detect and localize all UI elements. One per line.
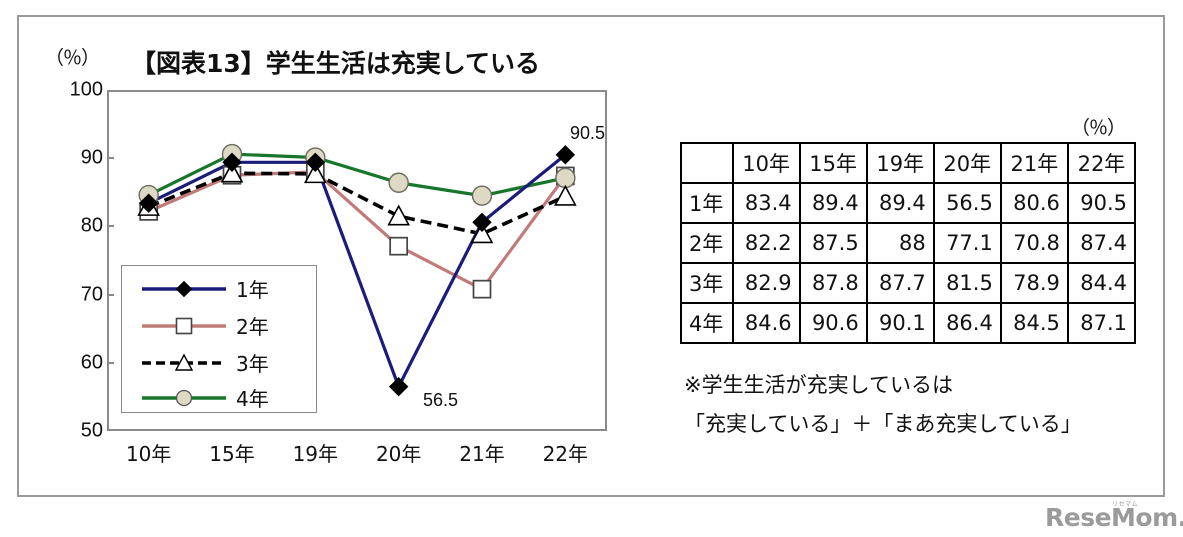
table-cell-0-4: 80.6 [1001, 183, 1068, 223]
table-row-header-0: 1年 [681, 183, 733, 223]
table-col-header-0: 10年 [733, 143, 800, 183]
x-tick-label-5: 22年 [520, 438, 610, 467]
data-point-1年-20年 [390, 378, 408, 396]
table-cell-3-4: 84.5 [1001, 303, 1068, 343]
legend-item-1[interactable]: 1年 [122, 270, 316, 307]
table-row-header-3: 4年 [681, 303, 733, 343]
table-row: 3年 82.9 87.8 87.7 81.5 78.9 84.4 [681, 263, 1135, 303]
legend-swatch-2 [140, 314, 228, 338]
table-cell-3-1: 90.6 [800, 303, 867, 343]
data-point-2年-20年 [390, 238, 407, 255]
table-col-header-3: 20年 [934, 143, 1001, 183]
legend-label-2: 2年 [236, 311, 269, 340]
legend-label-4: 4年 [236, 383, 269, 412]
table-col-header-2: 19年 [867, 143, 934, 183]
y-tick-label-90: 90 [61, 147, 103, 170]
table-cell-0-2: 89.4 [867, 183, 934, 223]
data-point-4年-20年 [389, 173, 408, 192]
footnote-line-1: ※学生生活が充実しているは [684, 369, 953, 399]
data-point-4年-21年 [473, 186, 492, 205]
table-cell-1-3: 77.1 [934, 223, 1001, 263]
table-cell-0-0: 83.4 [733, 183, 800, 223]
table-col-header-5: 22年 [1068, 143, 1135, 183]
table-header-row: 10年 15年 19年 20年 21年 22年 [681, 143, 1135, 183]
legend-swatch-3 [140, 351, 228, 375]
table-row: 2年 82.2 87.5 88 77.1 70.8 87.4 [681, 223, 1135, 263]
footnote-line-2: 「充実している」＋「まあ充実している」 [684, 408, 1082, 438]
table-col-header-4: 21年 [1001, 143, 1068, 183]
table-cell-2-5: 84.4 [1068, 263, 1135, 303]
legend-swatch-1 [140, 277, 228, 301]
data-point-3年-22年 [555, 186, 575, 205]
table-cell-0-3: 56.5 [934, 183, 1001, 223]
table-cell-3-0: 84.6 [733, 303, 800, 343]
y-tick-label-60: 60 [61, 351, 103, 374]
table-cell-2-3: 81.5 [934, 263, 1001, 303]
table-cell-1-5: 87.4 [1068, 223, 1135, 263]
table-cell-0-1: 89.4 [800, 183, 867, 223]
data-label-56-5: 56.5 [423, 390, 458, 411]
table-cell-1-1: 87.5 [800, 223, 867, 263]
y-tick-label-80: 80 [61, 215, 103, 238]
chart-title: 【図表13】学生生活は充実している [131, 44, 540, 80]
table-cell-3-3: 86.4 [934, 303, 1001, 343]
chart-unit-label: （％） [45, 43, 99, 70]
table-col-header-1: 15年 [800, 143, 867, 183]
x-tick-label-3: 20年 [354, 438, 444, 467]
chart-legend: 1年 2年 3年 4年 [121, 265, 317, 413]
table-cell-3-2: 90.1 [867, 303, 934, 343]
legend-item-3[interactable]: 3年 [122, 344, 316, 381]
figure-frame: （％） 【図表13】学生生活は充実している 100 90 80 70 60 50… [17, 15, 1165, 497]
table-cell-3-5: 87.1 [1068, 303, 1135, 343]
y-tick-label-70: 70 [61, 283, 103, 306]
table-cell-2-4: 78.9 [1001, 263, 1068, 303]
table-cell-2-1: 87.8 [800, 263, 867, 303]
legend-item-2[interactable]: 2年 [122, 307, 316, 344]
table-cell-1-4: 70.8 [1001, 223, 1068, 263]
y-tick-label-100: 100 [61, 79, 103, 102]
table-cell-2-2: 87.7 [867, 263, 934, 303]
resemom-logo-ruby: リセマム [1112, 499, 1138, 508]
legend-item-4[interactable]: 4年 [122, 379, 316, 416]
legend-label-3: 3年 [236, 348, 269, 377]
table-row-header-2: 3年 [681, 263, 733, 303]
table-cell-2-0: 82.9 [733, 263, 800, 303]
data-point-4年-22年 [556, 168, 575, 187]
table-row: 1年 83.4 89.4 89.4 56.5 80.6 90.5 [681, 183, 1135, 223]
table-cell-1-0: 82.2 [733, 223, 800, 263]
table-unit-label: （％） [1071, 113, 1125, 140]
table-row-header-1: 2年 [681, 223, 733, 263]
data-label-90-5: 90.5 [570, 123, 605, 144]
y-axis: 100 90 80 70 60 50 [33, 90, 103, 431]
x-tick-label-1: 15年 [187, 438, 277, 467]
data-point-3年-20年 [389, 206, 409, 225]
data-table: 10年 15年 19年 20年 21年 22年 1年 83.4 89.4 89.… [680, 142, 1136, 344]
table-cell-0-5: 90.5 [1068, 183, 1135, 223]
legend-swatch-4 [140, 386, 228, 410]
table-row: 4年 84.6 90.6 90.1 86.4 84.5 87.1 [681, 303, 1135, 343]
legend-label-1: 1年 [236, 274, 269, 303]
series-line-4年 [149, 154, 566, 196]
table-panel: （％） 10年 15年 19年 20年 21年 22年 1年 83.4 89.4 [644, 17, 1167, 499]
table-corner-cell [681, 143, 733, 183]
x-tick-label-0: 10年 [104, 438, 194, 467]
x-tick-label-4: 21年 [437, 438, 527, 467]
data-point-2年-21年 [474, 281, 491, 298]
x-tick-label-2: 19年 [270, 438, 360, 467]
table-cell-1-2: 88 [867, 223, 934, 263]
y-tick-label-50: 50 [61, 420, 103, 443]
chart-panel: （％） 【図表13】学生生活は充実している 100 90 80 70 60 50… [19, 17, 644, 499]
